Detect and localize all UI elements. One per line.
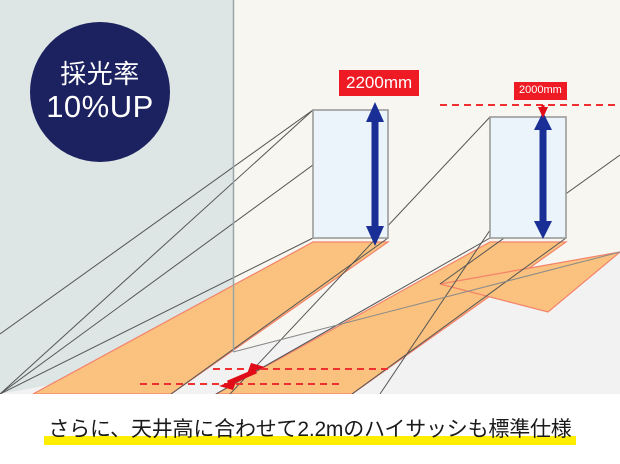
window-panel-standard[interactable] — [490, 117, 566, 238]
dimension-label-tall-window: 2200mm — [339, 70, 419, 96]
dimension-label-standard-window: 2000mm — [514, 82, 567, 100]
perspective-illustration: 採光率 10%UP 2200mm 2000mm — [0, 0, 620, 394]
caption-text-block: さらに、天井高に合わせて2.2mのハイサッシも標準仕様 — [44, 413, 575, 445]
badge-line-1: 採光率 — [60, 60, 140, 88]
slide-root: 採光率 10%UP 2200mm 2000mm さらに、天井高に合わせて2.2m… — [0, 0, 620, 464]
badge-line-2: 10%UP — [46, 90, 154, 123]
caption-area: さらに、天井高に合わせて2.2mのハイサッシも標準仕様 — [0, 394, 620, 464]
sunlight-rate-badge: 採光率 10%UP — [30, 22, 170, 162]
caption-text: さらに、天井高に合わせて2.2mのハイサッシも標準仕様 — [48, 418, 571, 441]
